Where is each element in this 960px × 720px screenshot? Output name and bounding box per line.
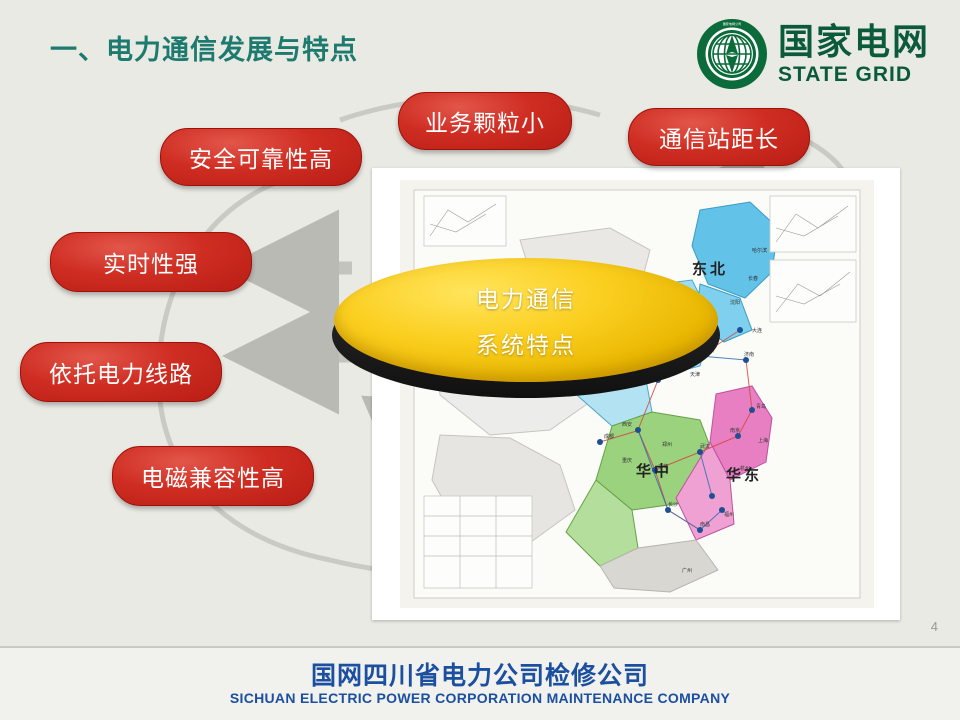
svg-text:郑州: 郑州 (662, 441, 672, 448)
map-region-label-east: 华东 (726, 464, 762, 485)
svg-text:大连: 大连 (752, 327, 762, 334)
svg-text:西安: 西安 (622, 421, 632, 428)
svg-text:长沙: 长沙 (668, 501, 678, 508)
feature-pill-station-distance[interactable]: 通信站距长 (628, 108, 810, 166)
slide-footer: 国网四川省电力公司检修公司 SICHUAN ELECTRIC POWER COR… (0, 646, 960, 720)
footer-company-cn: 国网四川省电力公司检修公司 (0, 656, 960, 692)
svg-text:福州: 福州 (724, 511, 734, 518)
svg-text:南昌: 南昌 (700, 521, 710, 528)
footer-company-en: SICHUAN ELECTRIC POWER CORPORATION MAINT… (0, 690, 960, 706)
svg-text:国家电网公司: 国家电网公司 (723, 21, 742, 26)
feature-pill-power-line[interactable]: 依托电力线路 (20, 342, 222, 402)
brand-name-block: 国家电网 STATE GRID (778, 24, 930, 85)
map-region-label-central: 华中 (636, 460, 672, 481)
feature-label: 实时性强 (103, 245, 199, 279)
slide-title-bar: 一、电力通信发展与特点 (50, 28, 358, 67)
brand-name-cn: 国家电网 (778, 24, 930, 60)
svg-text:沈阳: 沈阳 (730, 299, 740, 306)
feature-pill-emc[interactable]: 电磁兼容性高 (112, 446, 314, 506)
feature-label: 通信站距长 (659, 120, 779, 154)
page-number: 4 (931, 619, 938, 634)
state-grid-globe-icon: 国家电网公司 (696, 18, 768, 90)
svg-text:哈尔滨: 哈尔滨 (752, 247, 767, 254)
center-label-line2: 系统特点 (476, 326, 576, 360)
feature-pill-granularity[interactable]: 业务颗粒小 (398, 92, 572, 150)
feature-pill-reliability[interactable]: 安全可靠性高 (160, 128, 362, 186)
svg-text:武汉: 武汉 (700, 443, 710, 450)
brand-logo: 国家电网公司 国家电网 STATE GRID (696, 18, 930, 90)
svg-text:重庆: 重庆 (622, 457, 632, 464)
svg-text:成都: 成都 (604, 433, 614, 440)
center-label: 电力通信 系统特点 (334, 258, 718, 382)
svg-text:长春: 长春 (748, 275, 758, 282)
svg-text:广州: 广州 (682, 567, 692, 574)
feature-label: 安全可靠性高 (189, 140, 333, 174)
page-title: 一、电力通信发展与特点 (50, 28, 358, 67)
feature-label: 业务颗粒小 (425, 104, 545, 138)
feature-label: 电磁兼容性高 (141, 459, 285, 493)
brand-name-en: STATE GRID (778, 64, 930, 85)
center-concept-ellipse: 电力通信 系统特点 (332, 258, 720, 398)
svg-text:济南: 济南 (744, 351, 754, 358)
feature-label: 依托电力线路 (49, 355, 193, 389)
svg-text:青岛: 青岛 (756, 403, 766, 410)
svg-text:上海: 上海 (758, 437, 768, 444)
svg-text:南京: 南京 (730, 427, 740, 434)
slide-canvas: 一、电力通信发展与特点 国家电网公司 (0, 0, 960, 720)
center-label-line1: 电力通信 (476, 280, 576, 314)
feature-pill-realtime[interactable]: 实时性强 (50, 232, 252, 292)
